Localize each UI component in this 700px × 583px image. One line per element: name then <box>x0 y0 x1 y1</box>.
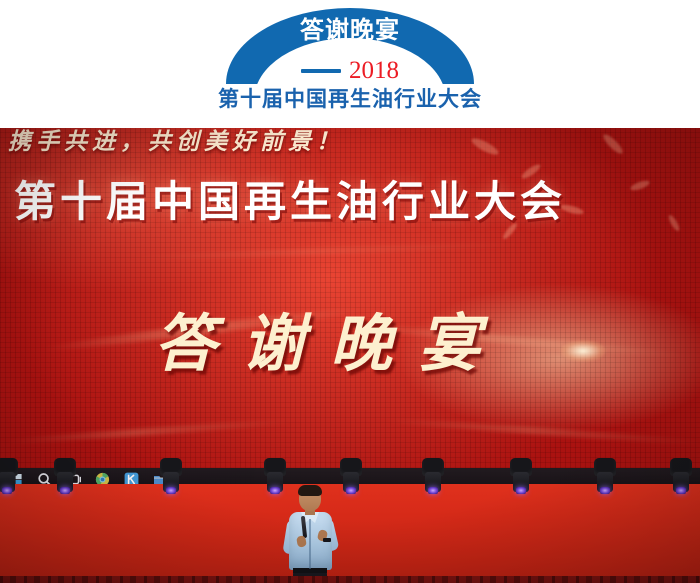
event-photo: 携手共进，共创美好前景！ 第十届中国再生油行业大会 答谢晚宴 主办： 承办： C… <box>0 128 700 583</box>
stage-skirt <box>0 576 700 583</box>
led-banquet-title: 答谢晚宴 <box>0 293 660 383</box>
stage-light <box>338 458 364 498</box>
year-label: 2018 <box>349 58 399 83</box>
conference-subtitle: 第十届中国再生油行业大会 <box>208 89 492 110</box>
stage-light <box>592 458 618 498</box>
led-backdrop: 携手共进，共创美好前景！ 第十届中国再生油行业大会 答谢晚宴 <box>0 128 700 488</box>
led-tagline: 携手共进，共创美好前景！ <box>8 128 478 156</box>
led-conference-title: 第十届中国再生油行业大会 <box>14 168 700 229</box>
banquet-title: 答谢晚宴 <box>226 18 474 42</box>
presenter-wristwatch <box>323 538 331 542</box>
presenter-hair <box>298 485 322 496</box>
page-root: 答谢晚宴 2018 第十届中国再生油行业大会 <box>0 0 700 583</box>
stage-light <box>420 458 446 498</box>
year-row: 2018 <box>226 58 474 83</box>
stage-light <box>508 458 534 498</box>
header-logo-block: 答谢晚宴 2018 第十届中国再生油行业大会 <box>0 0 700 128</box>
stage-light <box>158 458 184 498</box>
photo-content: 携手共进，共创美好前景！ 第十届中国再生油行业大会 答谢晚宴 主办： 承办： C… <box>0 128 700 583</box>
stage-light <box>668 458 694 498</box>
stage-light <box>52 458 78 498</box>
stage-light <box>0 458 20 498</box>
presenter-shirt-placket <box>309 519 311 569</box>
presenter <box>283 486 339 583</box>
event-logo: 答谢晚宴 2018 第十届中国再生油行业大会 <box>226 4 474 124</box>
year-dash-icon <box>301 69 341 73</box>
